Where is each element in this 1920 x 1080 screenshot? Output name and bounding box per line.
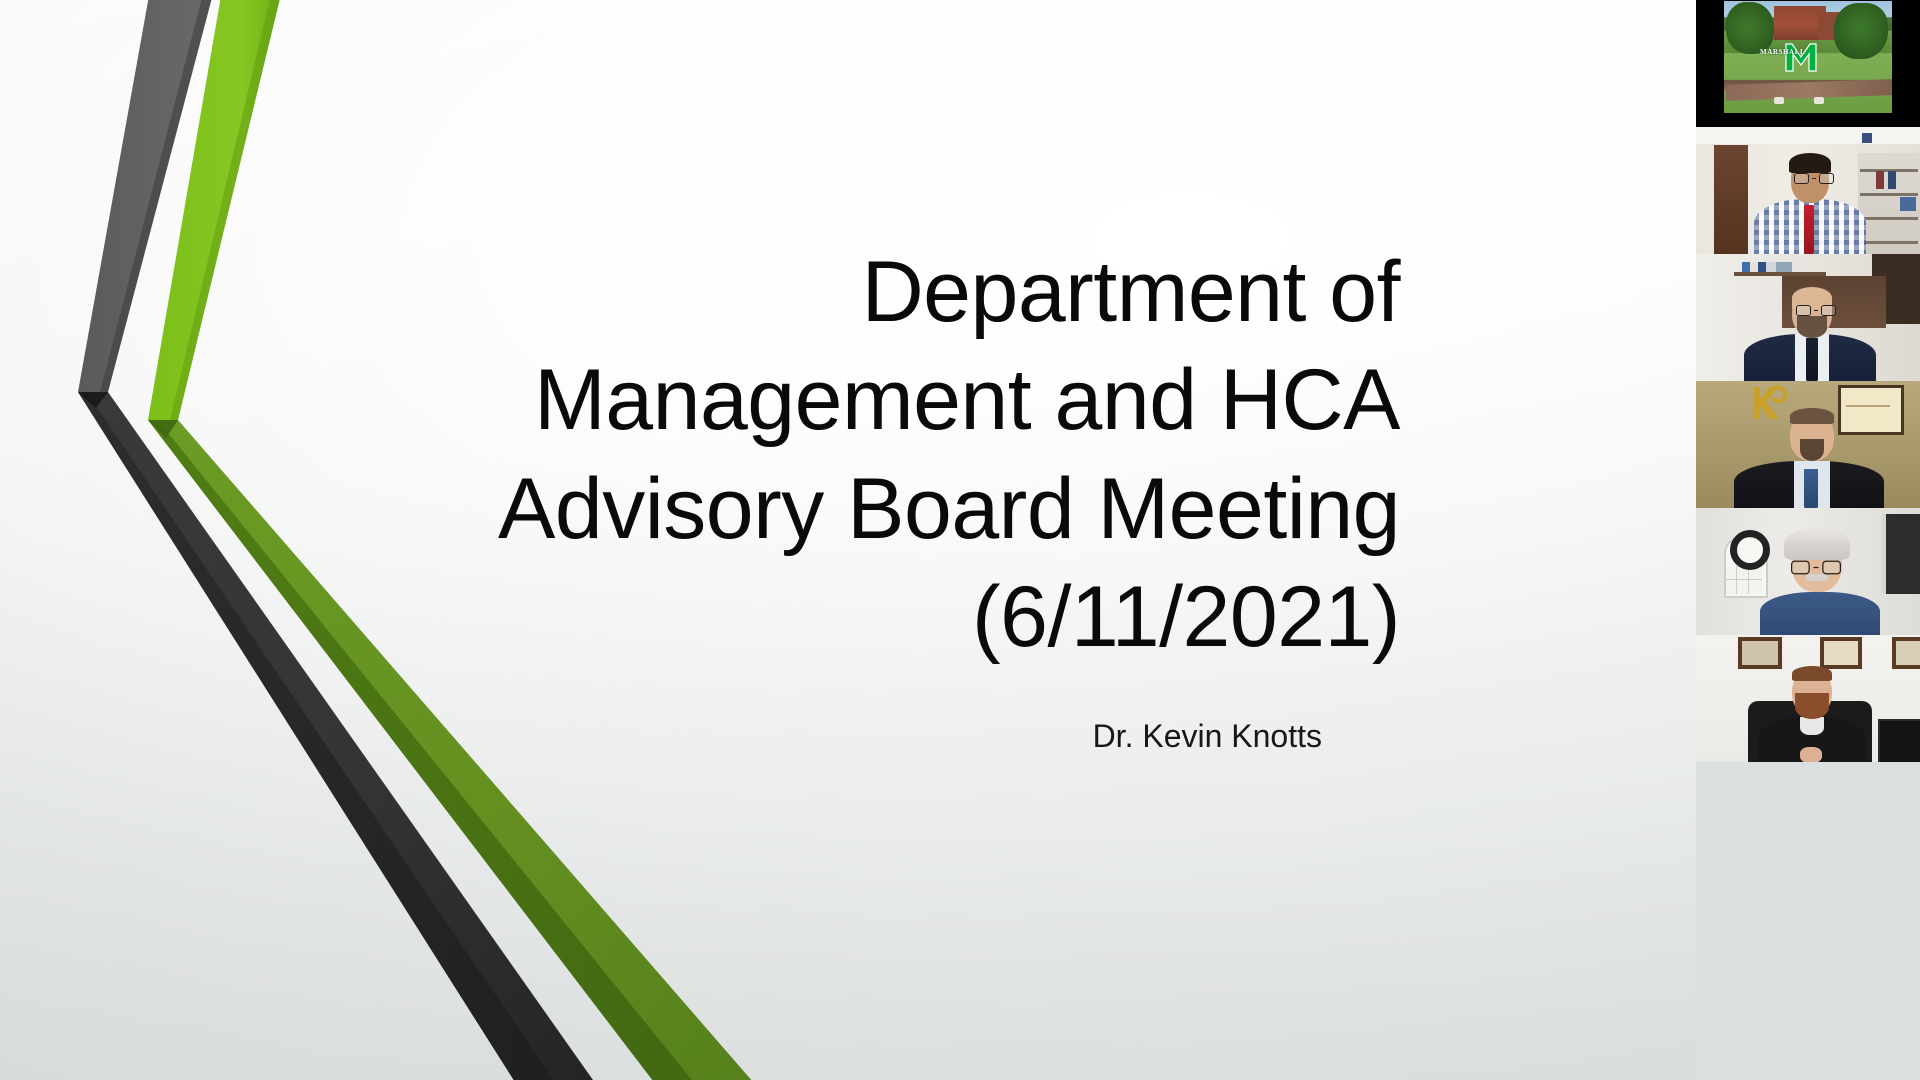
tile1-lamp-left-icon — [1774, 97, 1784, 104]
video-tile-6[interactable] — [1696, 635, 1920, 762]
tile4-person-goatee — [1800, 439, 1824, 461]
tile1-lamp-right-icon — [1814, 97, 1824, 104]
video-tile-5[interactable] — [1696, 508, 1920, 635]
video-tile-5-scene — [1696, 508, 1920, 635]
slide-subtitle: Dr. Kevin Knotts — [360, 717, 1400, 755]
strip-background-filler — [1696, 762, 1920, 1080]
tile2-book — [1862, 133, 1872, 143]
presentation-slide: Department of Management and HCA Advisor… — [0, 0, 1920, 1080]
title-block: Department of Management and HCA Advisor… — [360, 238, 1400, 756]
ksu-owl-logo-icon — [1744, 383, 1790, 423]
tile6-person-hand — [1800, 747, 1822, 762]
tile6-person-undershirt — [1800, 717, 1824, 735]
video-tile-2[interactable] — [1696, 127, 1920, 254]
tile5-wreath-icon — [1730, 530, 1770, 570]
tile1-marshall-wordmark: MARSHALL — [1760, 48, 1805, 56]
tile5-person-glasses-icon — [1791, 561, 1841, 575]
tile2-book — [1900, 197, 1916, 211]
tile2-door-panel — [1714, 145, 1748, 254]
tile4-diploma-text-line — [1846, 405, 1890, 407]
tile6-person-beard — [1795, 693, 1829, 719]
tile5-person-shirt — [1760, 592, 1880, 635]
video-tile-3[interactable] — [1696, 254, 1920, 381]
tile5-person-moustache — [1806, 574, 1828, 581]
tile3-person-tie — [1806, 338, 1818, 381]
video-tile-1[interactable]: MARSHALL — [1696, 0, 1920, 127]
video-tile-4[interactable] — [1696, 381, 1920, 508]
video-tile-2-scene — [1696, 127, 1920, 254]
tile6-picture-frame — [1892, 637, 1920, 669]
tile1-tree-right-icon — [1834, 3, 1888, 59]
tile5-doorway — [1882, 514, 1920, 594]
tile2-person-glasses-icon — [1794, 173, 1834, 184]
video-tile-6-scene — [1696, 635, 1920, 762]
tile3-books — [1742, 262, 1792, 272]
slide-title: Department of Management and HCA Advisor… — [360, 238, 1400, 671]
slide-title-text: Department of Management and HCA Advisor… — [498, 244, 1400, 665]
tile2-ceiling — [1696, 127, 1920, 144]
tile5-person-hair — [1784, 528, 1850, 560]
video-participant-strip[interactable]: MARSHALL — [1696, 0, 1920, 762]
video-tile-3-scene — [1696, 254, 1920, 381]
tile6-monitor — [1878, 719, 1920, 762]
tile6-picture-frame — [1738, 637, 1782, 669]
video-tile-1-scene: MARSHALL — [1696, 0, 1920, 127]
tile2-book — [1888, 171, 1896, 189]
tile2-book — [1876, 171, 1884, 189]
tile2-person-tie — [1804, 205, 1814, 254]
tile6-person-hair — [1792, 666, 1832, 681]
tile2-person-hair — [1789, 153, 1831, 173]
tile3-person-glasses-icon — [1796, 305, 1836, 316]
tile4-person-hair — [1790, 408, 1834, 424]
video-tile-4-scene — [1696, 381, 1920, 508]
tile4-person-tie — [1804, 469, 1818, 508]
tile3-person-beard — [1797, 316, 1827, 338]
tile5-window-panes — [1726, 566, 1762, 594]
tile4-diploma-frame — [1838, 385, 1904, 435]
tile1-tree-left-icon — [1726, 2, 1774, 54]
tile6-picture-frame — [1820, 637, 1862, 669]
